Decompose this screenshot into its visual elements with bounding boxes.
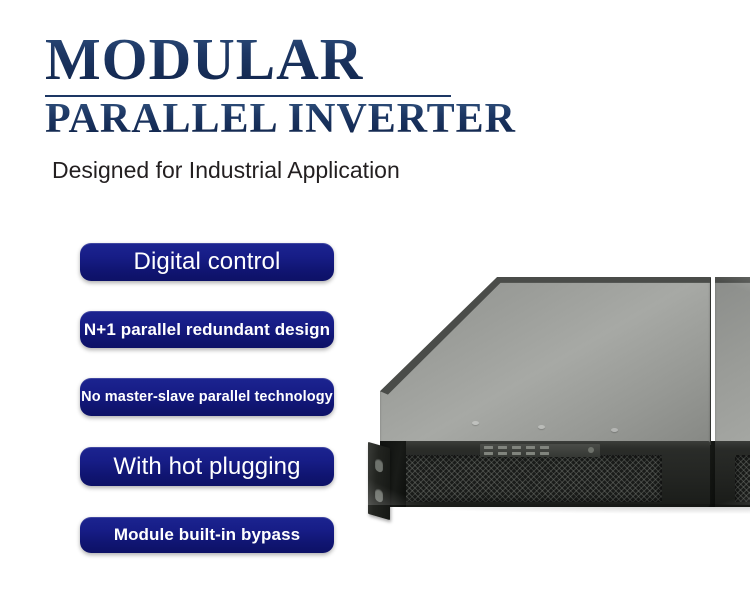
feature-pill-no-master-slave[interactable]: No master-slave parallel technology bbox=[80, 378, 334, 416]
led-indicator bbox=[498, 446, 507, 449]
screw-cap bbox=[538, 425, 545, 429]
feature-pill-hot-plugging[interactable]: With hot plugging bbox=[80, 447, 334, 486]
power-button-icon bbox=[588, 447, 594, 453]
bracket-hole bbox=[375, 488, 383, 503]
led-indicator bbox=[540, 452, 549, 455]
feature-label: With hot plugging bbox=[113, 453, 300, 481]
led-row bbox=[484, 452, 549, 455]
led-indicator bbox=[526, 452, 535, 455]
module-a-top-panel bbox=[380, 277, 710, 445]
screw-cap bbox=[611, 428, 618, 432]
module-b-top-panel bbox=[715, 277, 750, 445]
led-row bbox=[484, 446, 549, 449]
page-subtitle: Designed for Industrial Application bbox=[52, 157, 400, 184]
ventilation-grille-icon bbox=[735, 455, 750, 502]
module-a-indicator-panel bbox=[480, 444, 600, 457]
module-b-front-panel bbox=[715, 441, 750, 507]
feature-label: No master-slave parallel technology bbox=[81, 389, 333, 405]
led-indicator bbox=[540, 446, 549, 449]
page-title-line-1: MODULAR bbox=[45, 30, 363, 89]
feature-pill-built-in-bypass[interactable]: Module built-in bypass bbox=[80, 517, 334, 553]
product-shadow bbox=[378, 504, 750, 514]
led-indicator bbox=[512, 446, 521, 449]
led-indicator bbox=[484, 446, 493, 449]
feature-label: Module built-in bypass bbox=[114, 525, 300, 545]
feature-label: N+1 parallel redundant design bbox=[84, 320, 330, 340]
screw-cap bbox=[472, 421, 479, 425]
led-indicator bbox=[484, 452, 493, 455]
led-indicator bbox=[498, 452, 507, 455]
module-a-front-panel bbox=[380, 441, 710, 507]
feature-pill-n-plus-1-redundant[interactable]: N+1 parallel redundant design bbox=[80, 311, 334, 348]
page-title-line-2: PARALLEL INVERTER bbox=[45, 98, 516, 140]
led-indicator bbox=[526, 446, 535, 449]
heading-block: MODULAR PARALLEL INVERTER bbox=[0, 0, 500, 145]
product-photo-inverter-modules bbox=[360, 255, 750, 505]
poster-root: MODULAR PARALLEL INVERTER Designed for I… bbox=[0, 0, 750, 596]
ventilation-grille-icon bbox=[400, 455, 662, 502]
feature-pill-digital-control[interactable]: Digital control bbox=[80, 243, 334, 281]
feature-list: Digital control N+1 parallel redundant d… bbox=[80, 243, 334, 553]
feature-label: Digital control bbox=[134, 248, 281, 276]
led-indicator bbox=[512, 452, 521, 455]
bracket-hole bbox=[375, 458, 383, 473]
